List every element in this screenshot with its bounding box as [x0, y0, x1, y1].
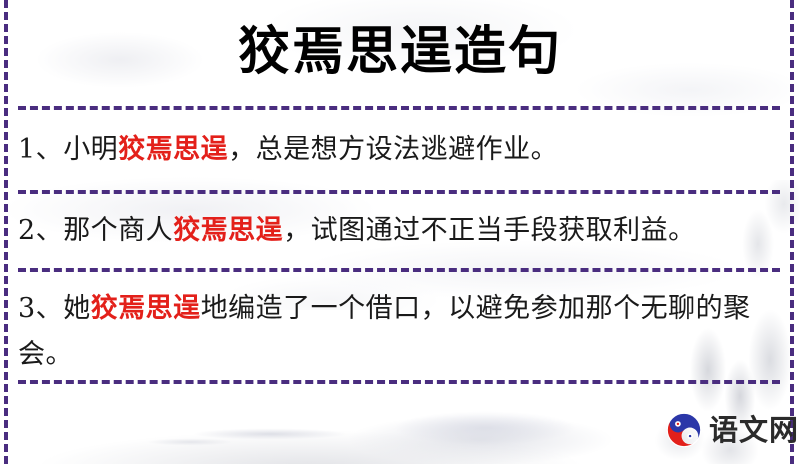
sentence-before-3: 她 — [63, 293, 91, 324]
dashed-border-left — [4, 0, 8, 464]
dashed-separator-2 — [18, 190, 780, 194]
sentence-after-2: ，试图通过不正当手段获取利益。 — [283, 215, 696, 246]
dashed-separator-4 — [18, 380, 780, 384]
sentence-number-3: 3、 — [18, 293, 63, 324]
sentence-row-2: 2、那个商人狡焉思逞，试图通过不正当手段获取利益。 — [18, 208, 780, 254]
yinyang-fish-icon — [665, 411, 703, 449]
watermark-mountain — [0, 382, 740, 464]
site-logo-text: 语文网 — [709, 413, 799, 447]
slide-page: 狡焉思逞造句 1、小明狡焉思逞，总是想方设法逃避作业。 2、那个商人狡焉思逞，试… — [0, 0, 800, 464]
watermark-boat — [120, 418, 380, 452]
sentence-after-1: ，总是想方设法逃避作业。 — [228, 134, 558, 165]
idiom-highlight-2: 狡焉思逞 — [173, 215, 283, 246]
idiom-highlight-1: 狡焉思逞 — [118, 134, 228, 165]
sentence-row-1: 1、小明狡焉思逞，总是想方设法逃避作业。 — [18, 127, 780, 173]
dashed-separator-1 — [18, 106, 780, 110]
sentence-row-3: 3、她狡焉思逞地编造了一个借口，以避免参加那个无聊的聚会。 — [18, 286, 780, 378]
idiom-highlight-3: 狡焉思逞 — [91, 293, 201, 324]
sentence-before-2: 那个商人 — [63, 215, 173, 246]
dashed-separator-3 — [18, 268, 780, 272]
dashed-border-right — [790, 0, 794, 464]
sentence-number-1: 1、 — [18, 134, 63, 165]
sentence-before-1: 小明 — [63, 134, 118, 165]
site-logo[interactable]: 语文网 — [665, 408, 799, 452]
sentence-number-2: 2、 — [18, 215, 63, 246]
page-title: 狡焉思逞造句 — [0, 20, 800, 84]
